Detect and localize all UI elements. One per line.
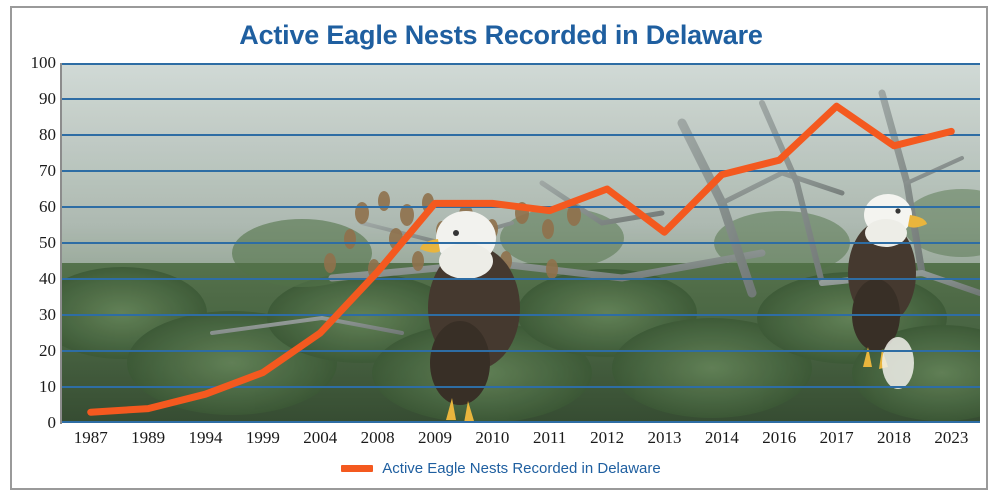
series-line-layer bbox=[62, 63, 980, 423]
chart-frame: Active Eagle Nests Recorded in Delaware … bbox=[10, 6, 988, 490]
y-tick-label: 50 bbox=[12, 233, 56, 253]
chart-legend: Active Eagle Nests Recorded in Delaware bbox=[12, 460, 990, 477]
chart-screenshot: Active Eagle Nests Recorded in Delaware … bbox=[0, 0, 998, 500]
y-tick-label: 80 bbox=[12, 125, 56, 145]
x-tick-label: 2016 bbox=[762, 428, 796, 448]
x-tick-label: 2023 bbox=[934, 428, 968, 448]
y-tick-label: 40 bbox=[12, 269, 56, 289]
x-axis: 1987198919941999200420082009201020112012… bbox=[62, 428, 980, 458]
y-axis: 1009080706050403020100 bbox=[12, 8, 56, 492]
x-tick-label: 2004 bbox=[303, 428, 337, 448]
x-tick-label: 1987 bbox=[74, 428, 108, 448]
y-tick-label: 20 bbox=[12, 341, 56, 361]
x-tick-label: 2013 bbox=[647, 428, 681, 448]
y-tick-label: 70 bbox=[12, 161, 56, 181]
x-tick-label: 2014 bbox=[705, 428, 739, 448]
x-tick-label: 1999 bbox=[246, 428, 280, 448]
x-tick-label: 2012 bbox=[590, 428, 624, 448]
x-tick-label: 2010 bbox=[475, 428, 509, 448]
y-tick-label: 0 bbox=[12, 413, 56, 433]
x-tick-label: 2008 bbox=[361, 428, 395, 448]
plot-area bbox=[62, 63, 980, 423]
plot-wrapper: 1009080706050403020100 bbox=[12, 8, 990, 492]
y-tick-label: 100 bbox=[12, 53, 56, 73]
x-tick-label: 1994 bbox=[188, 428, 222, 448]
x-tick-label: 2009 bbox=[418, 428, 452, 448]
x-tick-label: 2011 bbox=[533, 428, 566, 448]
legend-swatch-eagle-nests bbox=[341, 465, 373, 472]
y-tick-label: 60 bbox=[12, 197, 56, 217]
x-tick-label: 2018 bbox=[877, 428, 911, 448]
x-tick-label: 2017 bbox=[820, 428, 854, 448]
y-tick-label: 10 bbox=[12, 377, 56, 397]
y-tick-label: 90 bbox=[12, 89, 56, 109]
legend-label-eagle-nests: Active Eagle Nests Recorded in Delaware bbox=[382, 460, 660, 477]
series-polyline-eagle-nests bbox=[91, 106, 952, 412]
y-tick-label: 30 bbox=[12, 305, 56, 325]
x-tick-label: 1989 bbox=[131, 428, 165, 448]
